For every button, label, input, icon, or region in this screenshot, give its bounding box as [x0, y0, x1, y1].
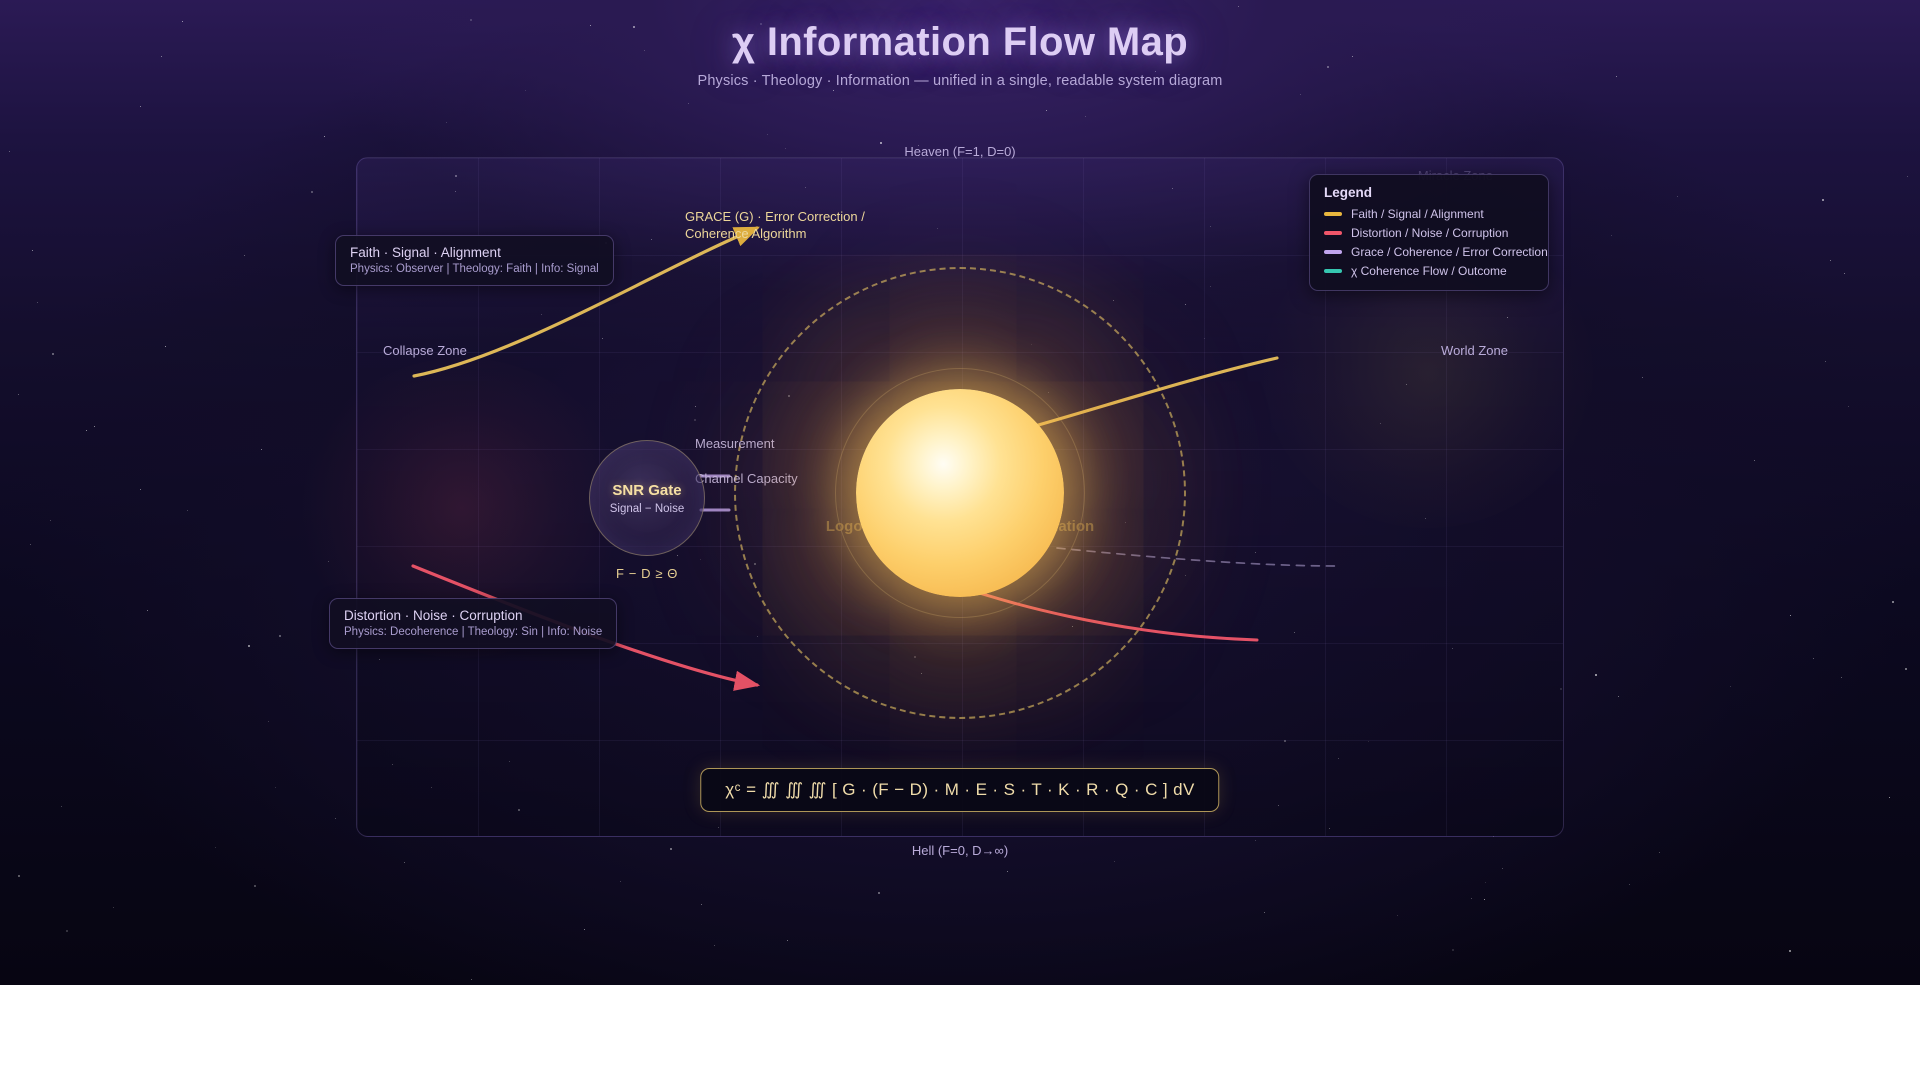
star-dot: [94, 426, 95, 427]
star-dot: [1471, 898, 1472, 899]
star-dot: [1484, 899, 1485, 900]
star-dot: [670, 848, 672, 850]
star-dot: [1485, 882, 1486, 883]
legend-item-label: Faith / Signal / Alignment: [1351, 207, 1484, 221]
star-dot: [324, 136, 325, 137]
zone-label-world: World Zone: [1441, 343, 1508, 358]
star-dot: [1905, 668, 1907, 670]
grace-label-line2: Coherence Algorithm: [685, 225, 865, 242]
star-dot: [335, 818, 336, 819]
star-dot: [18, 394, 19, 395]
page-bottom-strip: [0, 985, 1920, 1080]
legend-item-1: Distortion / Noise / Corruption: [1324, 226, 1534, 240]
snr-gate-title: SNR Gate: [612, 482, 681, 499]
star-dot: [248, 645, 250, 647]
legend-panel: Legend Faith / Signal / AlignmentDistort…: [1309, 174, 1549, 291]
star-dot: [147, 610, 148, 611]
star-dot: [1677, 196, 1678, 197]
star-dot: [1844, 273, 1845, 274]
star-dot: [113, 907, 114, 908]
star-dot: [1830, 260, 1831, 261]
star-dot: [1841, 677, 1842, 678]
core-label-capacity: Channel Capacity: [695, 471, 798, 486]
star-dot: [1822, 199, 1824, 201]
legend-item-2: Grace / Coherence / Error Correction: [1324, 245, 1534, 259]
star-dot: [1907, 176, 1908, 177]
star-dot: [9, 151, 10, 152]
star-dot: [254, 885, 256, 887]
star-dot: [584, 929, 585, 930]
star-dot: [714, 945, 715, 946]
star-dot: [620, 881, 621, 882]
formula-text: χᶜ = ∭ ∭ ∭ [ G · (F − D) · M · E · S · T…: [725, 780, 1194, 800]
star-dot: [1789, 950, 1791, 952]
star-dot: [1825, 361, 1826, 362]
callout-distortion-subtitle: Physics: Decoherence | Theology: Sin | I…: [344, 626, 602, 638]
star-dot: [1255, 840, 1256, 841]
star-dot: [275, 787, 276, 788]
star-dot: [446, 122, 447, 123]
star-dot: [140, 489, 141, 490]
legend-title: Legend: [1324, 185, 1534, 200]
callout-faith-title: Faith · Signal · Alignment: [350, 245, 599, 260]
star-dot: [61, 806, 62, 807]
legend-item-0: Faith / Signal / Alignment: [1324, 207, 1534, 221]
star-dot: [18, 875, 20, 877]
star-dot: [1813, 658, 1814, 659]
legend-swatch-icon: [1324, 231, 1342, 235]
star-dot: [767, 134, 768, 135]
star-dot: [1502, 868, 1503, 869]
star-dot: [1238, 6, 1239, 7]
star-dot: [833, 90, 834, 91]
legend-swatch-icon: [1324, 212, 1342, 216]
star-dot: [1595, 674, 1597, 676]
star-dot: [66, 930, 68, 932]
star-dot: [880, 142, 882, 144]
zone-label-heaven: Heaven (F=1, D=0): [904, 144, 1015, 159]
snr-gate-condition: F − D ≥ Θ: [589, 566, 705, 581]
zone-label-collapse: Collapse Zone: [383, 343, 467, 358]
callout-faith[interactable]: Faith · Signal · Alignment Physics: Obse…: [335, 235, 614, 286]
star-dot: [244, 255, 245, 256]
star-dot: [785, 148, 786, 149]
star-dot: [140, 106, 141, 107]
snr-gate-node[interactable]: SNR Gate Signal − Noise: [589, 440, 705, 556]
star-dot: [787, 940, 788, 941]
star-dot: [165, 346, 166, 347]
star-dot: [1611, 235, 1612, 236]
star-dot: [1397, 915, 1398, 916]
star-dot: [1629, 884, 1630, 885]
star-dot: [1007, 871, 1008, 872]
star-dot: [32, 250, 33, 251]
star-dot: [215, 847, 216, 848]
star-dot: [1300, 94, 1301, 95]
star-dot: [52, 353, 54, 355]
legend-item-label: Distortion / Noise / Corruption: [1351, 226, 1508, 240]
star-dot: [701, 904, 702, 905]
legend-swatch-icon: [1324, 250, 1342, 254]
star-dot: [878, 892, 880, 894]
diagram-panel: Heaven (F=1, D=0) Hell (F=0, D→∞) Collap…: [356, 157, 1564, 837]
page-title: χ Information Flow Map: [0, 20, 1920, 65]
callout-faith-subtitle: Physics: Observer | Theology: Faith | In…: [350, 263, 599, 275]
star-dot: [268, 721, 269, 722]
snr-gate-subtitle: Signal − Noise: [610, 503, 684, 515]
star-dot: [1085, 116, 1086, 117]
callout-distortion-title: Distortion · Noise · Corruption: [344, 608, 602, 623]
logos-core-sun: [856, 389, 1064, 597]
star-dot: [471, 979, 472, 980]
star-dot: [311, 191, 313, 193]
star-dot: [1046, 110, 1047, 111]
star-dot: [328, 561, 329, 562]
star-dot: [1730, 686, 1731, 687]
legend-swatch-icon: [1324, 269, 1342, 273]
grace-orbit-label: GRACE (G) · Error Correction / Coherence…: [685, 208, 865, 242]
core-label-measurement: Measurement: [695, 436, 774, 451]
star-dot: [404, 862, 405, 863]
star-dot: [1452, 949, 1454, 951]
star-dot: [1114, 861, 1115, 862]
formula-bar: χᶜ = ∭ ∭ ∭ [ G · (F − D) · M · E · S · T…: [700, 768, 1219, 812]
legend-item-label: Grace / Coherence / Error Correction: [1351, 245, 1548, 259]
star-dot: [30, 544, 31, 545]
star-dot: [37, 302, 38, 303]
star-dot: [1848, 406, 1849, 407]
star-dot: [261, 449, 262, 450]
star-dot: [50, 520, 51, 521]
star-dot: [1264, 912, 1265, 913]
star-dot: [1889, 797, 1890, 798]
star-dot: [1618, 696, 1619, 697]
star-dot: [86, 430, 87, 431]
zone-label-hell: Hell (F=0, D→∞): [912, 843, 1008, 858]
legend-item-3: χ Coherence Flow / Outcome: [1324, 264, 1534, 278]
star-dot: [1659, 852, 1660, 853]
legend-item-label: χ Coherence Flow / Outcome: [1351, 264, 1507, 278]
star-dot: [525, 90, 526, 91]
legend-rows: Faith / Signal / AlignmentDistortion / N…: [1324, 207, 1534, 278]
star-dot: [279, 635, 281, 637]
star-dot: [1642, 377, 1643, 378]
star-dot: [187, 510, 188, 511]
star-dot: [1754, 460, 1755, 461]
diagram-canvas: χ Information Flow Map Physics · Theolog…: [0, 0, 1920, 985]
page-header: χ Information Flow Map Physics · Theolog…: [0, 20, 1920, 89]
callout-distortion[interactable]: Distortion · Noise · Corruption Physics:…: [329, 598, 617, 649]
page-subtitle: Physics · Theology · Information — unifi…: [0, 73, 1920, 89]
star-dot: [688, 103, 689, 104]
grace-label-line1: GRACE (G) · Error Correction /: [685, 208, 865, 225]
star-dot: [1892, 601, 1894, 603]
star-dot: [1790, 615, 1791, 616]
